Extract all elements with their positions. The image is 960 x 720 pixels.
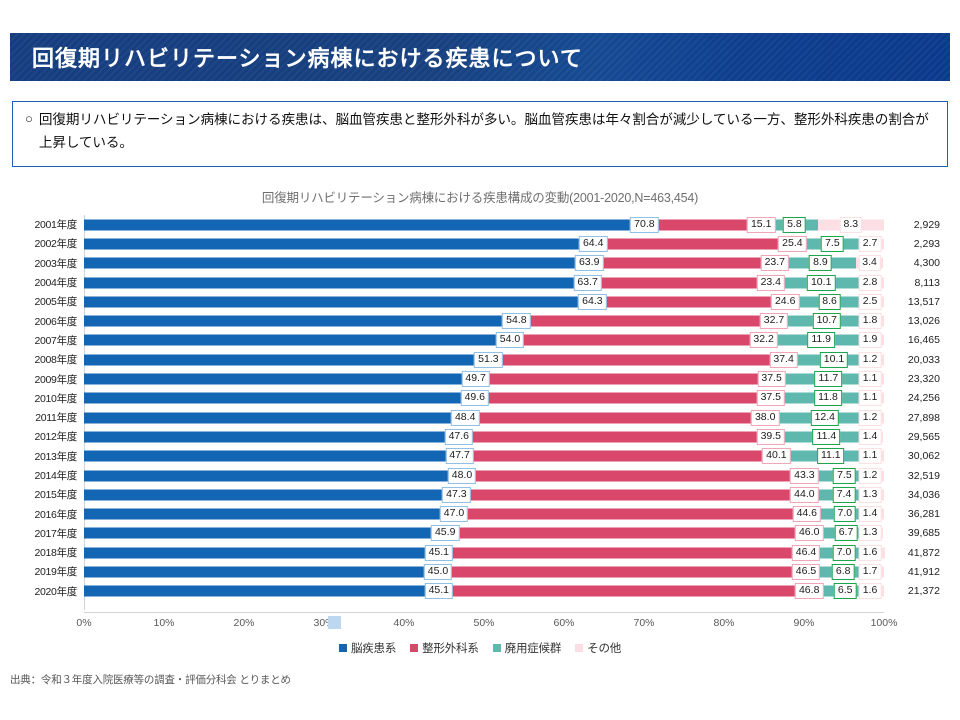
row-total-n: 34,036 [892, 489, 940, 501]
chart-row: 2013年度47.740.111.11.130,062 [12, 447, 948, 466]
y-axis-label: 2009年度 [12, 372, 84, 387]
bar-segment-整形外科系 [468, 470, 814, 481]
chart-row: 2019年度45.046.56.81.741,912 [12, 562, 948, 581]
bar-segment-脳疾患系 [84, 219, 650, 230]
bar-value-label: 43.3 [790, 467, 818, 483]
chart-title: 回復期リハビリテーション病棟における疾患構成の変動(2001-2020,N=46… [12, 176, 948, 206]
bar-value-label: 8.9 [809, 255, 832, 271]
row-total-n: 20,033 [892, 354, 940, 366]
bar-track: 64.425.47.52.72,293 [84, 234, 884, 253]
bar-value-label: 1.1 [859, 371, 882, 387]
x-axis-tick: 50% [473, 617, 494, 629]
y-axis-label: 2006年度 [12, 314, 84, 329]
bar-value-label: 49.6 [461, 390, 489, 406]
bar-segment-整形外科系 [444, 566, 816, 577]
page-title: 回復期リハビリテーション病棟における疾患について [10, 41, 583, 73]
bar-value-label: 44.0 [790, 487, 818, 503]
bar-segment-整形外科系 [445, 586, 819, 597]
bar-value-label: 2.7 [859, 236, 882, 252]
chart-row: 2008年度51.337.410.11.220,033 [12, 350, 948, 369]
bar-value-label: 11.7 [815, 371, 843, 387]
bar-value-label: 37.4 [769, 352, 797, 368]
bullet-circle-icon: ○ [25, 109, 33, 129]
bar-value-label: 38.0 [751, 410, 779, 426]
y-axis-label: 2004年度 [12, 275, 84, 290]
bar-value-label: 37.5 [757, 371, 785, 387]
bar-segment-脳疾患系 [84, 412, 471, 423]
bar-value-label: 54.0 [496, 332, 524, 348]
legend-swatch-icon [575, 644, 583, 652]
bar-segment-整形外科系 [462, 489, 814, 500]
bar-value-label: 3.4 [858, 255, 881, 271]
bar-track: 47.740.111.11.130,062 [84, 447, 884, 466]
bar-track: 63.723.410.12.88,113 [84, 273, 884, 292]
bar-value-label: 6.7 [835, 525, 858, 541]
bar-track: 47.639.511.41.429,565 [84, 427, 884, 446]
bar-value-label: 46.0 [795, 525, 823, 541]
bar-value-label: 23.4 [757, 275, 785, 291]
legend-swatch-icon [410, 644, 418, 652]
legend-item-脳疾患系[interactable]: 脳疾患系 [339, 640, 396, 656]
bar-segment-整形外科系 [471, 412, 775, 423]
y-axis-label: 2001年度 [12, 217, 84, 232]
bar-value-label: 1.9 [859, 332, 882, 348]
x-axis-tick: 70% [633, 617, 654, 629]
bar-value-label: 32.7 [760, 313, 788, 329]
bar-segment-脳疾患系 [84, 354, 494, 365]
bar-value-label: 11.1 [817, 448, 845, 464]
chart-legend: 脳疾患系整形外科系廃用症候群その他 [12, 640, 948, 656]
x-axis-tick: 40% [393, 617, 414, 629]
bar-track: 48.043.37.51.232,519 [84, 466, 884, 485]
row-total-n: 2,929 [892, 219, 940, 231]
summary-row: ○ 回復期リハビリテーション病棟における疾患は、脳血管疾患と整形外科が多い。脳血… [25, 109, 937, 155]
chart-row: 2017年度45.946.06.71.339,685 [12, 524, 948, 543]
bar-value-label: 7.0 [833, 545, 856, 561]
bar-segment-脳疾患系 [84, 277, 594, 288]
bar-value-label: 45.1 [425, 545, 453, 561]
chart-row: 2001年度70.815.15.88.32,929 [12, 215, 948, 234]
bar-value-label: 64.4 [579, 236, 607, 252]
bar-segment-整形外科系 [460, 509, 817, 520]
bar-segment-脳疾患系 [84, 374, 482, 385]
chart-row: 2003年度63.923.78.93.44,300 [12, 254, 948, 273]
x-axis-tick: 80% [713, 617, 734, 629]
legend-swatch-icon [339, 644, 347, 652]
bar-track: 45.046.56.81.741,912 [84, 562, 884, 581]
bar-value-label: 11.9 [807, 332, 835, 348]
bar-value-label: 1.3 [859, 525, 882, 541]
bar-value-label: 10.7 [813, 313, 841, 329]
bar-value-label: 46.8 [795, 583, 823, 599]
legend-label: 整形外科系 [422, 640, 479, 656]
bar-track: 49.637.511.81.124,256 [84, 389, 884, 408]
y-axis-label: 2020年度 [12, 584, 84, 599]
y-axis-label: 2010年度 [12, 391, 84, 406]
bar-value-label: 25.4 [778, 236, 806, 252]
bar-value-label: 39.5 [757, 429, 785, 445]
bar-value-label: 1.6 [859, 583, 882, 599]
x-axis: 0%10%20%30%40%50%60%70%80%90%100% [12, 612, 948, 632]
y-axis-label: 2005年度 [12, 294, 84, 309]
bar-value-label: 51.3 [474, 352, 502, 368]
bar-track: 48.438.012.41.227,898 [84, 408, 884, 427]
bar-segment-脳疾患系 [84, 296, 598, 307]
bar-value-label: 10.1 [807, 275, 835, 291]
bar-segment-整形外科系 [465, 431, 781, 442]
bar-value-label: 12.4 [811, 410, 839, 426]
legend-label: 廃用症候群 [505, 640, 562, 656]
source-note: 出典：令和３年度入院医療等の調査・評価分科会 とりまとめ [10, 672, 291, 687]
bar-value-label: 1.1 [859, 448, 882, 464]
y-axis-label: 2016年度 [12, 507, 84, 522]
chart-row: 2007年度54.032.211.91.916,465 [12, 331, 948, 350]
row-total-n: 21,372 [892, 585, 940, 597]
legend-item-その他[interactable]: その他 [575, 640, 621, 656]
x-axis-tick: 10% [153, 617, 174, 629]
bar-value-label: 47.6 [445, 429, 473, 445]
bar-segment-脳疾患系 [84, 528, 451, 539]
chart-row: 2010年度49.637.511.81.124,256 [12, 389, 948, 408]
chart-row: 2014年度48.043.37.51.232,519 [12, 466, 948, 485]
bar-value-label: 8.6 [818, 294, 841, 310]
row-total-n: 24,256 [892, 392, 940, 404]
tick-selection-highlight [328, 616, 341, 629]
bar-track: 45.146.86.51.621,372 [84, 582, 884, 601]
bar-value-label: 54.8 [502, 313, 530, 329]
y-axis-label: 2007年度 [12, 333, 84, 348]
bar-track: 54.832.710.71.813,026 [84, 311, 884, 330]
x-axis-tick: 0% [76, 617, 91, 629]
x-axis-tick: 100% [871, 617, 898, 629]
x-axis-line [84, 612, 884, 613]
bar-value-label: 10.1 [820, 352, 848, 368]
chart-plot-area: 2001年度70.815.15.88.32,9292002年度64.425.47… [12, 215, 948, 610]
bar-track: 64.324.68.62.513,517 [84, 292, 884, 311]
legend-item-整形外科系[interactable]: 整形外科系 [410, 640, 479, 656]
chart-row: 2016年度47.044.67.01.436,281 [12, 504, 948, 523]
bar-track: 54.032.211.91.916,465 [84, 331, 884, 350]
row-total-n: 4,300 [892, 257, 940, 269]
bar-value-label: 1.3 [859, 487, 882, 503]
bar-segment-脳疾患系 [84, 335, 516, 346]
row-total-n: 23,320 [892, 373, 940, 385]
bar-track: 70.815.15.88.32,929 [84, 215, 884, 234]
chart-row: 2005年度64.324.68.62.513,517 [12, 292, 948, 311]
bar-value-label: 40.1 [762, 448, 790, 464]
bar-value-label: 49.7 [461, 371, 489, 387]
row-total-n: 29,565 [892, 431, 940, 443]
legend-item-廃用症候群[interactable]: 廃用症候群 [493, 640, 562, 656]
row-total-n: 41,912 [892, 566, 940, 578]
bar-value-label: 7.5 [821, 236, 844, 252]
chart-row: 2009年度49.737.511.71.123,320 [12, 369, 948, 388]
row-total-n: 39,685 [892, 527, 940, 539]
bar-value-label: 6.8 [832, 564, 855, 580]
bar-value-label: 1.8 [859, 313, 882, 329]
chart-row: 2020年度45.146.86.51.621,372 [12, 582, 948, 601]
bar-value-label: 1.4 [859, 429, 882, 445]
bar-value-label: 45.9 [431, 525, 459, 541]
chart-row: 2012年度47.639.511.41.429,565 [12, 427, 948, 446]
bar-value-label: 1.2 [859, 352, 882, 368]
chart-row: 2004年度63.723.410.12.88,113 [12, 273, 948, 292]
x-axis-tick: 90% [793, 617, 814, 629]
bar-value-label: 1.6 [859, 545, 882, 561]
y-axis-label: 2019年度 [12, 564, 84, 579]
bar-value-label: 7.5 [833, 467, 856, 483]
row-total-n: 8,113 [892, 277, 940, 289]
bar-segment-整形外科系 [595, 258, 785, 269]
y-axis-label: 2017年度 [12, 526, 84, 541]
bar-value-label: 45.0 [424, 564, 452, 580]
bar-track: 45.946.06.71.339,685 [84, 524, 884, 543]
chart-row: 2006年度54.832.710.71.813,026 [12, 311, 948, 330]
bar-segment-整形外科系 [466, 451, 787, 462]
chart-row: 2002年度64.425.47.52.72,293 [12, 234, 948, 253]
bar-value-label: 15.1 [747, 217, 775, 233]
bar-value-label: 64.3 [578, 294, 606, 310]
bar-value-label: 37.5 [757, 390, 785, 406]
bar-value-label: 47.3 [442, 487, 470, 503]
row-total-n: 2,293 [892, 238, 940, 250]
bar-track: 51.337.410.11.220,033 [84, 350, 884, 369]
page-title-banner: 回復期リハビリテーション病棟における疾患について [10, 33, 950, 81]
bar-segment-整形外科系 [522, 316, 784, 327]
y-axis-label: 2018年度 [12, 545, 84, 560]
y-axis-label: 2014年度 [12, 468, 84, 483]
bar-segment-整形外科系 [598, 296, 795, 307]
bar-value-label: 70.8 [630, 217, 658, 233]
chart-rows: 2001年度70.815.15.88.32,9292002年度64.425.47… [12, 215, 948, 601]
bar-segment-脳疾患系 [84, 547, 445, 558]
bar-value-label: 1.1 [859, 390, 882, 406]
bar-value-label: 5.8 [783, 217, 806, 233]
bar-segment-整形外科系 [599, 238, 802, 249]
row-total-n: 32,519 [892, 470, 940, 482]
y-axis-label: 2012年度 [12, 429, 84, 444]
bar-value-label: 46.4 [792, 545, 820, 561]
bar-value-label: 6.5 [834, 583, 857, 599]
bar-value-label: 8.3 [839, 217, 862, 233]
summary-text: 回復期リハビリテーション病棟における疾患は、脳血管疾患と整形外科が多い。脳血管疾… [39, 109, 937, 155]
bar-segment-脳疾患系 [84, 431, 465, 442]
y-axis-label: 2008年度 [12, 352, 84, 367]
bar-value-label: 45.1 [425, 583, 453, 599]
bar-track: 47.044.67.01.436,281 [84, 504, 884, 523]
row-total-n: 27,898 [892, 412, 940, 424]
bar-segment-脳疾患系 [84, 566, 444, 577]
bar-value-label: 63.9 [575, 255, 603, 271]
bar-segment-脳疾患系 [84, 258, 595, 269]
y-axis-label: 2002年度 [12, 236, 84, 251]
bar-value-label: 2.5 [859, 294, 882, 310]
bar-segment-脳疾患系 [84, 451, 466, 462]
row-total-n: 41,872 [892, 547, 940, 559]
bar-segment-整形外科系 [445, 547, 816, 558]
bar-value-label: 1.4 [859, 506, 882, 522]
bar-segment-脳疾患系 [84, 489, 462, 500]
chart-row: 2011年度48.438.012.41.227,898 [12, 408, 948, 427]
legend-label: その他 [587, 640, 621, 656]
bar-segment-整形外科系 [594, 277, 781, 288]
bar-value-label: 48.4 [451, 410, 479, 426]
bar-track: 49.737.511.71.123,320 [84, 369, 884, 388]
chart-container: 回復期リハビリテーション病棟における疾患構成の変動(2001-2020,N=46… [12, 176, 948, 658]
bar-segment-整形外科系 [481, 393, 781, 404]
row-total-n: 30,062 [892, 450, 940, 462]
row-total-n: 16,465 [892, 334, 940, 346]
summary-callout-box: ○ 回復期リハビリテーション病棟における疾患は、脳血管疾患と整形外科が多い。脳血… [12, 101, 948, 167]
bar-value-label: 47.7 [445, 448, 473, 464]
y-axis-label: 2013年度 [12, 449, 84, 464]
bar-value-label: 11.8 [814, 390, 842, 406]
bar-segment-整形外科系 [451, 528, 819, 539]
bar-value-label: 7.4 [833, 487, 856, 503]
row-total-n: 36,281 [892, 508, 940, 520]
bar-value-label: 2.8 [859, 275, 882, 291]
bar-segment-整形外科系 [482, 374, 782, 385]
bar-segment-脳疾患系 [84, 316, 522, 327]
legend-swatch-icon [493, 644, 501, 652]
bar-value-label: 46.5 [792, 564, 820, 580]
legend-label: 脳疾患系 [351, 640, 396, 656]
bar-segment-脳疾患系 [84, 586, 445, 597]
y-axis-label: 2015年度 [12, 487, 84, 502]
bar-value-label: 32.2 [749, 332, 777, 348]
bar-value-label: 1.2 [859, 467, 882, 483]
bar-value-label: 44.6 [793, 506, 821, 522]
bar-value-label: 11.4 [813, 429, 841, 445]
bar-segment-脳疾患系 [84, 470, 468, 481]
bar-segment-脳疾患系 [84, 509, 460, 520]
row-total-n: 13,517 [892, 296, 940, 308]
bar-value-label: 63.7 [573, 275, 601, 291]
bar-segment-脳疾患系 [84, 393, 481, 404]
x-axis-tick: 20% [233, 617, 254, 629]
chart-row: 2018年度45.146.47.01.641,872 [12, 543, 948, 562]
bar-track: 45.146.47.01.641,872 [84, 543, 884, 562]
bar-value-label: 48.0 [448, 467, 476, 483]
bar-track: 47.344.07.41.334,036 [84, 485, 884, 504]
x-axis-tick: 60% [553, 617, 574, 629]
bar-value-label: 47.0 [440, 506, 468, 522]
row-total-n: 13,026 [892, 315, 940, 327]
bar-track: 63.923.78.93.44,300 [84, 254, 884, 273]
bar-value-label: 1.7 [859, 564, 882, 580]
bar-segment-整形外科系 [516, 335, 774, 346]
bar-segment-整形外科系 [494, 354, 793, 365]
bar-value-label: 7.0 [833, 506, 856, 522]
y-axis-label: 2011年度 [12, 410, 84, 425]
bar-value-label: 1.2 [859, 410, 882, 426]
bar-value-label: 24.6 [771, 294, 799, 310]
y-axis-label: 2003年度 [12, 256, 84, 271]
bar-segment-脳疾患系 [84, 238, 599, 249]
bar-value-label: 23.7 [761, 255, 789, 271]
chart-row: 2015年度47.344.07.41.334,036 [12, 485, 948, 504]
